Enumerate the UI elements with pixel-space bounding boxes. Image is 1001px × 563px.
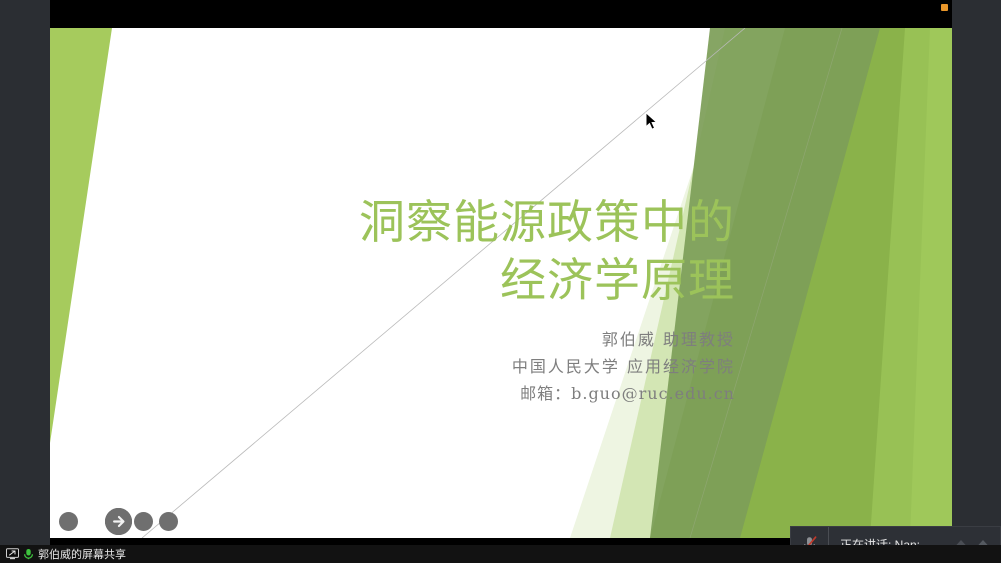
taskbar-item-label: 郭伯威的屏幕共享 [38,546,126,562]
desktop-right-pane [952,0,1001,545]
microphone-active-icon [23,548,34,560]
slide-player-controls: CC [53,508,184,535]
next-slide-button[interactable] [159,512,178,531]
screen-share-icon [6,548,19,560]
taskbar-item-screen-share[interactable]: 郭伯威的屏幕共享 [2,546,130,562]
presentation-slide[interactable]: 洞察能源政策中的 经济学原理 郭伯威 助理教授 中国人民大学 应用经济学院 邮箱… [50,28,952,538]
desktop-root: 洞察能源政策中的 经济学原理 郭伯威 助理教授 中国人民大学 应用经济学院 邮箱… [0,0,1001,563]
taskbar: 郭伯威的屏幕共享 [0,545,1001,563]
desktop-left-pane [0,0,50,545]
recording-status-dot [941,4,948,11]
shared-window-topbar [50,0,952,28]
arrow-right-circle-icon [53,508,184,535]
slide-background-graphic [50,28,952,538]
